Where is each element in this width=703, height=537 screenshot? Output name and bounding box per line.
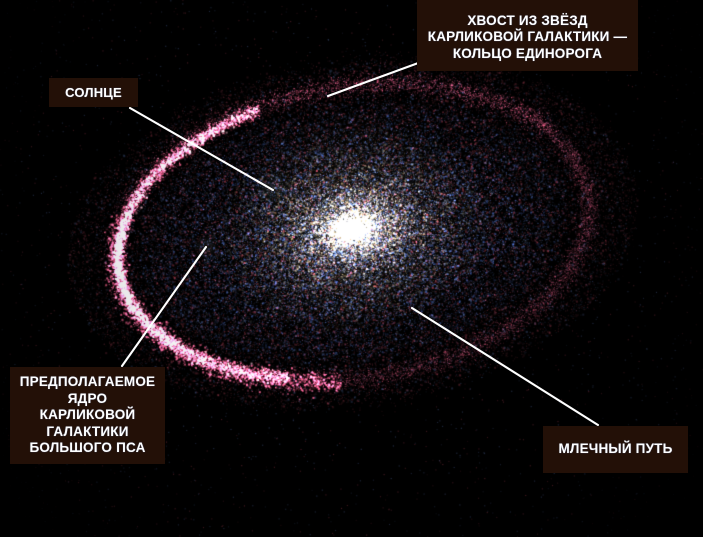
callout-milky-way: МЛЕЧНЫЙ ПУТЬ — [543, 426, 688, 473]
callout-canis-major-dwarf: ПРЕДПОЛАГАЕМОЕ ЯДРО КАРЛИКОВОЙ ГАЛАКТИКИ… — [10, 367, 165, 464]
callout-canis-major-dwarf-label: ПРЕДПОЛАГАЕМОЕ ЯДРО КАРЛИКОВОЙ ГАЛАКТИКИ… — [20, 374, 156, 456]
callout-monoceros-ring-label: ХВОСТ ИЗ ЗВЁЗД КАРЛИКОВОЙ ГАЛАКТИКИ — КО… — [428, 13, 627, 62]
figure-root: СОЛНЦЕ ХВОСТ ИЗ ЗВЁЗД КАРЛИКОВОЙ ГАЛАКТИ… — [0, 0, 703, 537]
callout-sun-label: СОЛНЦЕ — [65, 85, 122, 101]
callout-sun: СОЛНЦЕ — [49, 78, 138, 107]
callout-milky-way-label: МЛЕЧНЫЙ ПУТЬ — [558, 441, 672, 457]
callout-monoceros-ring: ХВОСТ ИЗ ЗВЁЗД КАРЛИКОВОЙ ГАЛАКТИКИ — КО… — [417, 0, 638, 71]
